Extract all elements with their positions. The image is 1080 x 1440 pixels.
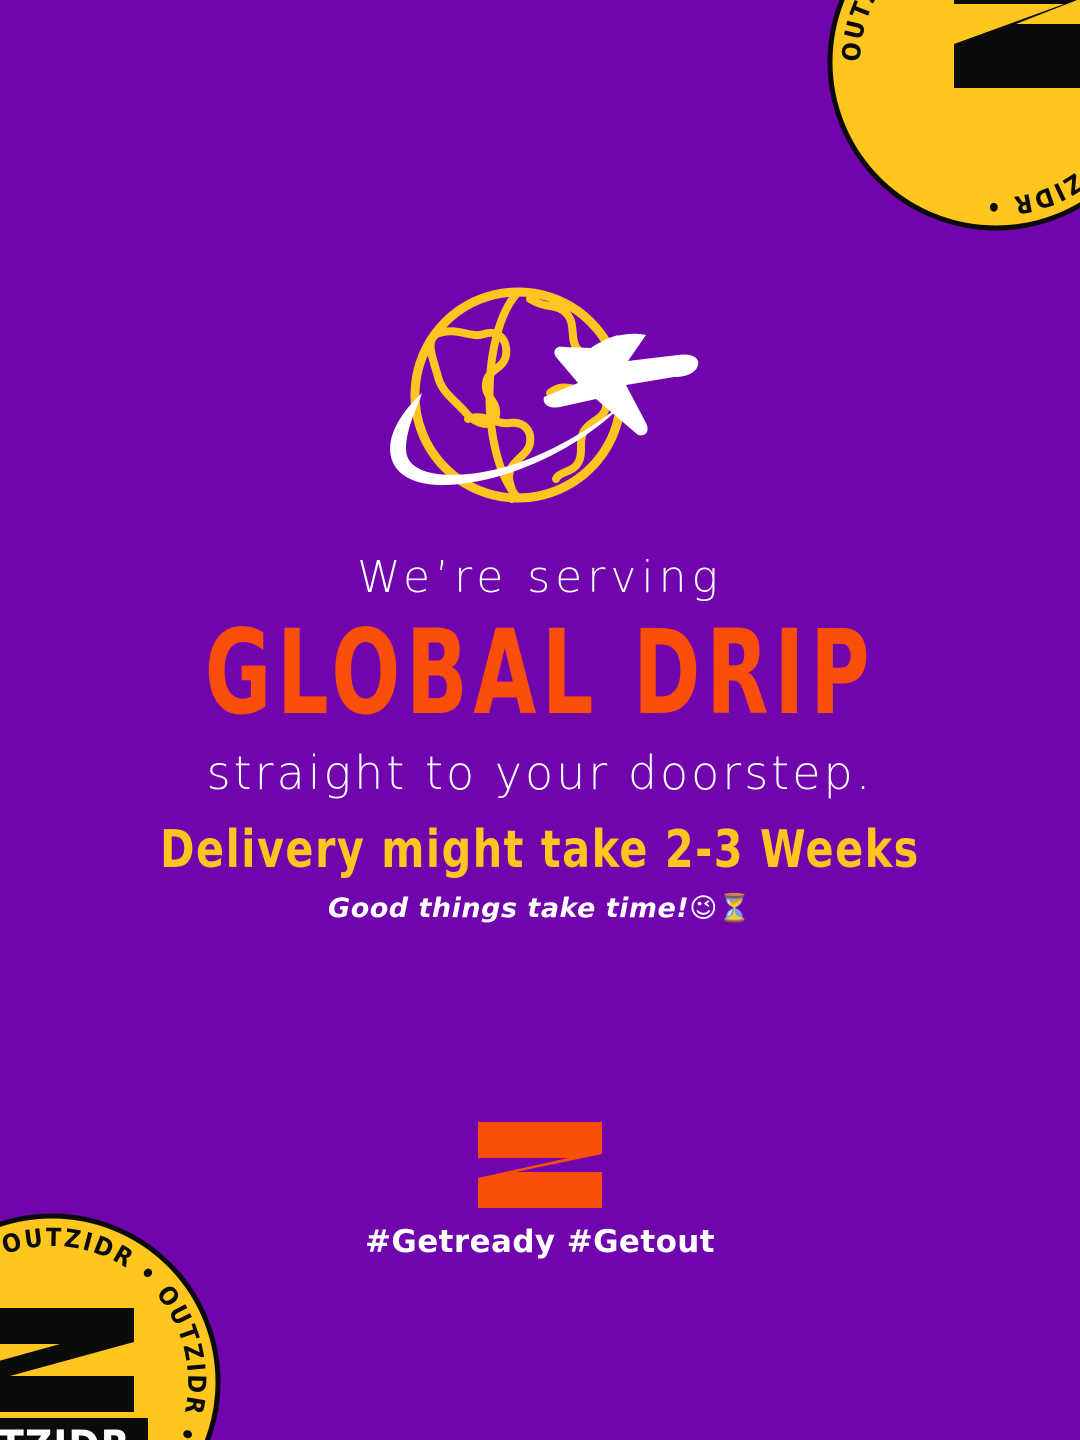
hourglass-emoji: ⏳ (718, 893, 752, 924)
globe-airplane-icon (360, 273, 720, 523)
badge-seal-icon: OUTZIDR • OUTZIDR • OUTZIDR • OUTZIDR • … (0, 1212, 222, 1440)
outzidr-badge-top-right: OUTZIDR • OUTZIDR • OUTZIDR • OUTZIDR • (826, 0, 1080, 232)
outzidr-badge-bottom-left: OUTZIDR • OUTZIDR • OUTZIDR • OUTZIDR • … (0, 1212, 222, 1440)
wink-emoji: 😉 (689, 893, 718, 924)
outzidr-z-logo (476, 1120, 604, 1210)
delivery-sub-text: Good things take time! (328, 893, 689, 924)
globe-illustration (0, 268, 1080, 528)
badge-wordmark: OUTZIDR (0, 1421, 131, 1440)
headline-block: We’re serving GLOBAL DRIP straight to yo… (0, 552, 1080, 801)
delivery-reassurance: Good things take time!😉⏳ (0, 892, 1080, 924)
poster-canvas: We’re serving GLOBAL DRIP straight to yo… (0, 0, 1080, 1440)
subline-text: straight to your doorstep. (0, 746, 1080, 801)
page-title: GLOBAL DRIP (32, 614, 1047, 733)
delivery-estimate: Delivery might take 2-3 Weeks (0, 819, 1080, 879)
delivery-block: Delivery might take 2-3 Weeks Good thing… (0, 822, 1080, 924)
eyebrow-text: We’re serving (0, 552, 1080, 604)
badge-seal-icon: OUTZIDR • OUTZIDR • OUTZIDR • OUTZIDR • (826, 0, 1080, 232)
